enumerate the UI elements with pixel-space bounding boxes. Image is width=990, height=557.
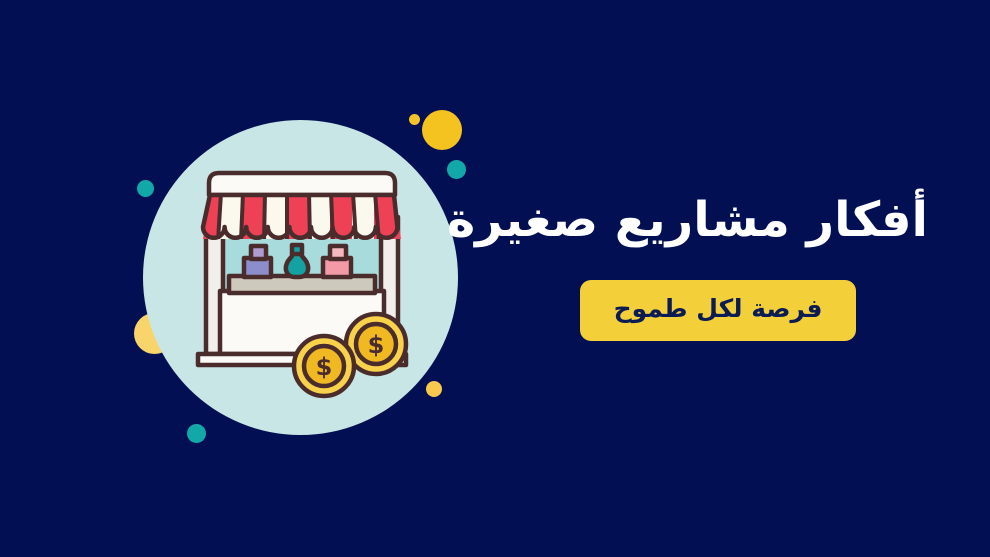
svg-text:$: $ [316, 353, 333, 381]
headline-block: أفكار مشاريع صغيرة فرصة لكل طموح [508, 190, 928, 341]
badge-container: فرصة لكل طموح [508, 280, 928, 341]
stall-graphic: $ $ [191, 161, 413, 403]
tagline-badge[interactable]: فرصة لكل طموح [580, 280, 857, 341]
awning-top-board [209, 173, 395, 195]
awning-canopy [196, 193, 408, 243]
page-title: أفكار مشاريع صغيرة [508, 190, 928, 250]
svg-text:$: $ [368, 331, 385, 359]
coin-small: $ [294, 336, 354, 396]
market-stall-illustration: $ $ [143, 120, 458, 435]
promotional-banner: $ $ أفكار مشاريع صغيرة فرصة لكل طموح [0, 0, 990, 557]
